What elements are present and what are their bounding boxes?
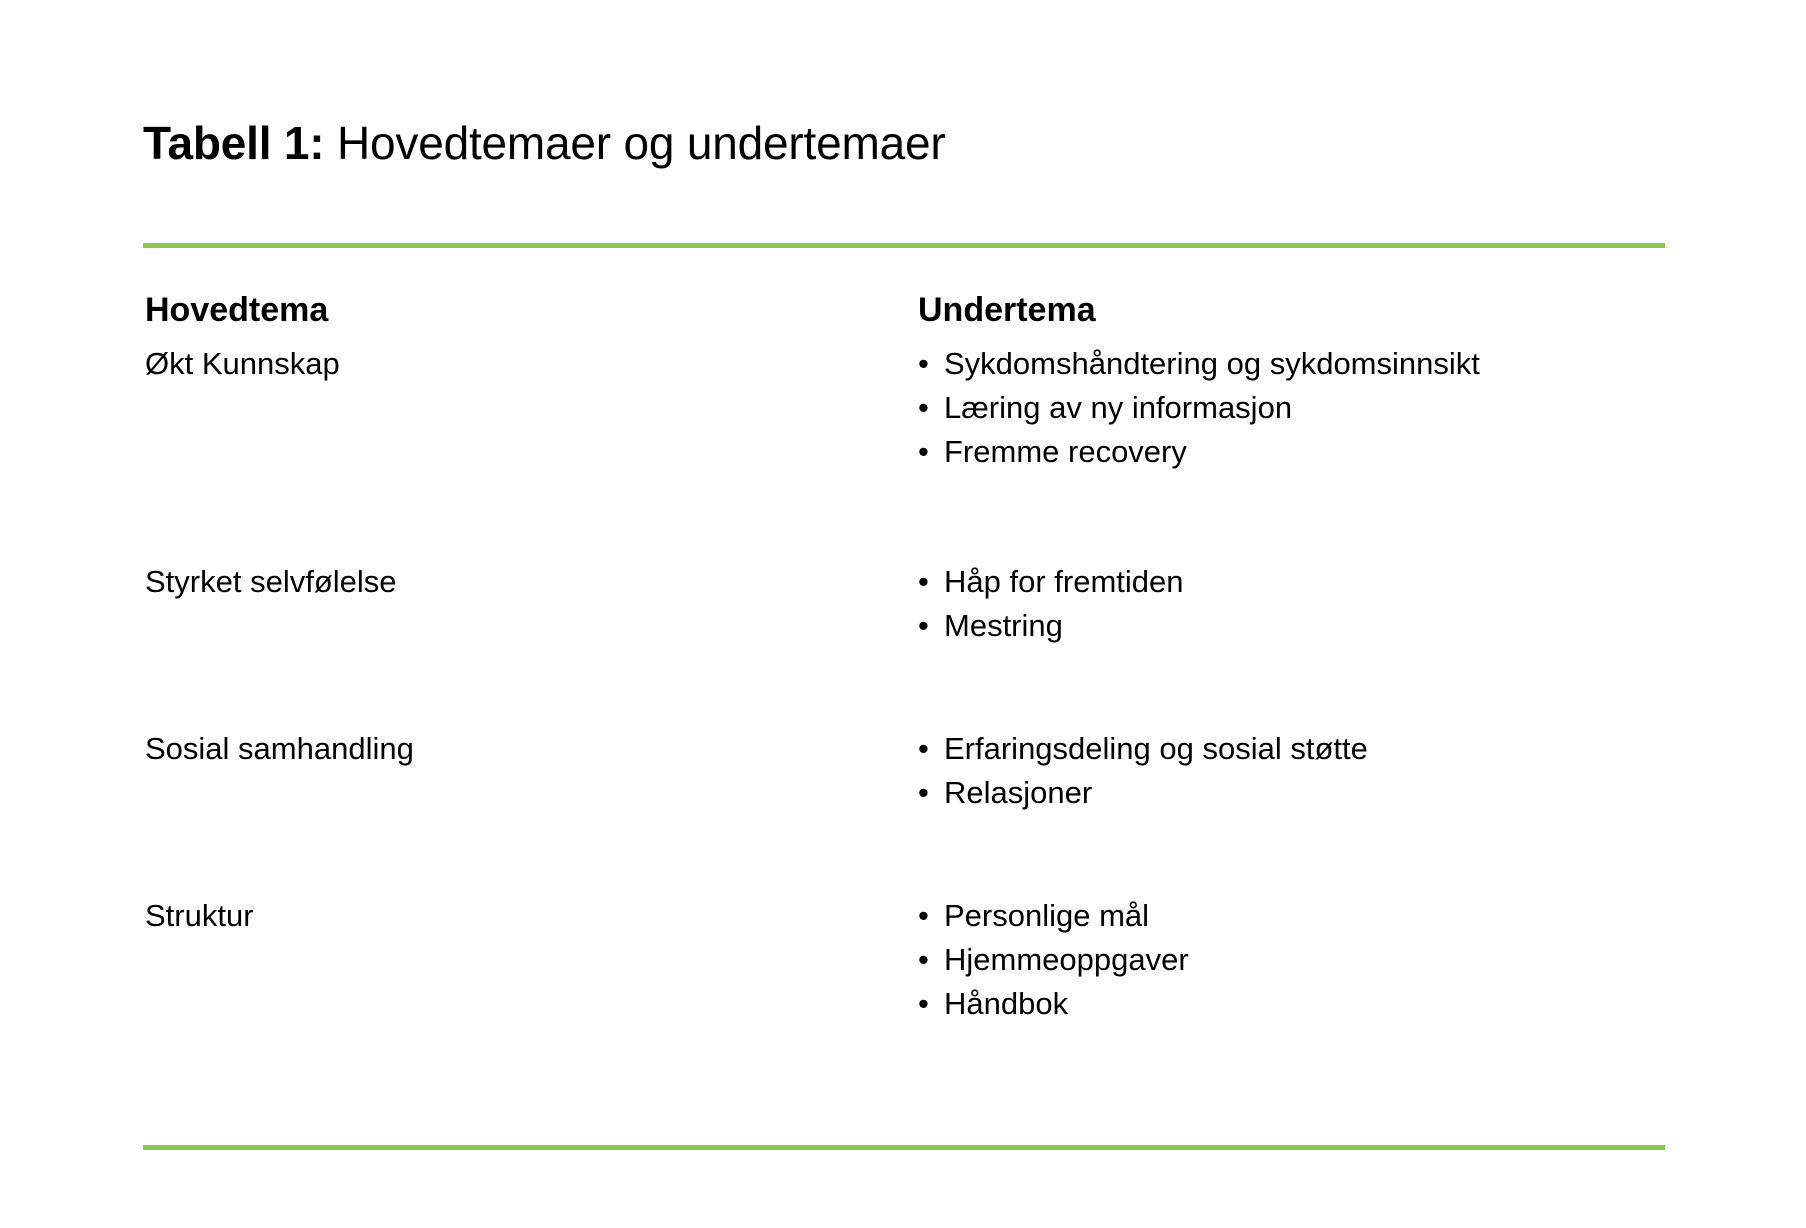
- main-theme-label: Sosial samhandling: [145, 727, 765, 771]
- bullet-icon: •: [918, 938, 929, 982]
- table-cell-hovedtema: Struktur: [145, 894, 765, 938]
- table-cell-hovedtema: Styrket selvfølelse: [145, 560, 765, 604]
- bullet-icon: •: [918, 894, 929, 938]
- subtheme-list: •Personlige mål •Hjemmeoppgaver •Håndbok: [918, 894, 1658, 1026]
- list-item: •Læring av ny informasjon: [918, 386, 1658, 430]
- bullet-icon: •: [918, 727, 929, 771]
- bullet-icon: •: [918, 560, 929, 604]
- table-bottom-rule: [143, 1145, 1665, 1150]
- main-theme-label: Styrket selvfølelse: [145, 560, 765, 604]
- subtheme-label: Relasjoner: [944, 775, 1092, 810]
- subtheme-label: Håndbok: [944, 986, 1068, 1021]
- subtheme-label: Mestring: [944, 608, 1063, 643]
- subtheme-label: Sykdomshåndtering og sykdomsinnsikt: [944, 346, 1480, 381]
- page-title-rest: Hovedtemaer og undertemaer: [324, 117, 945, 169]
- table-cell-undertema: •Personlige mål •Hjemmeoppgaver •Håndbok: [918, 894, 1658, 1026]
- table-cell-hovedtema: Sosial samhandling: [145, 727, 765, 771]
- list-item: •Mestring: [918, 604, 1658, 648]
- subtheme-label: Erfaringsdeling og sosial støtte: [944, 731, 1368, 766]
- column-header-hovedtema-cell: Hovedtema: [145, 290, 765, 331]
- page-title-prefix: Tabell 1:: [143, 117, 324, 169]
- table-cell-undertema: •Håp for fremtiden •Mestring: [918, 560, 1658, 648]
- subtheme-label: Hjemmeoppgaver: [944, 942, 1189, 977]
- column-header-undertema-cell: Undertema: [918, 290, 1658, 331]
- table-cell-undertema: •Erfaringsdeling og sosial støtte •Relas…: [918, 727, 1658, 815]
- list-item: •Håp for fremtiden: [918, 560, 1658, 604]
- column-header-hovedtema: Hovedtema: [145, 290, 765, 331]
- bullet-icon: •: [918, 604, 929, 648]
- list-item: •Hjemmeoppgaver: [918, 938, 1658, 982]
- subtheme-label: Håp for fremtiden: [944, 564, 1184, 599]
- table-top-rule: [143, 243, 1665, 248]
- main-theme-label: Struktur: [145, 894, 765, 938]
- bullet-icon: •: [918, 430, 929, 474]
- list-item: •Erfaringsdeling og sosial støtte: [918, 727, 1658, 771]
- bullet-icon: •: [918, 342, 929, 386]
- page-title: Tabell 1: Hovedtemaer og undertemaer: [143, 117, 945, 170]
- bullet-icon: •: [918, 982, 929, 1026]
- list-item: •Fremme recovery: [918, 430, 1658, 474]
- list-item: •Personlige mål: [918, 894, 1658, 938]
- column-header-undertema: Undertema: [918, 290, 1658, 331]
- bullet-icon: •: [918, 771, 929, 815]
- main-theme-label: Økt Kunnskap: [145, 342, 765, 386]
- table-cell-hovedtema: Økt Kunnskap: [145, 342, 765, 386]
- bullet-icon: •: [918, 386, 929, 430]
- subtheme-label: Læring av ny informasjon: [944, 390, 1292, 425]
- subtheme-label: Personlige mål: [944, 898, 1149, 933]
- list-item: •Relasjoner: [918, 771, 1658, 815]
- subtheme-list: •Erfaringsdeling og sosial støtte •Relas…: [918, 727, 1658, 815]
- list-item: •Sykdomshåndtering og sykdomsinnsikt: [918, 342, 1658, 386]
- subtheme-list: •Håp for fremtiden •Mestring: [918, 560, 1658, 648]
- subtheme-label: Fremme recovery: [944, 434, 1187, 469]
- subtheme-list: •Sykdomshåndtering og sykdomsinnsikt •Læ…: [918, 342, 1658, 474]
- list-item: •Håndbok: [918, 982, 1658, 1026]
- slide-canvas: Tabell 1: Hovedtemaer og undertemaer Hov…: [0, 0, 1806, 1228]
- table-cell-undertema: •Sykdomshåndtering og sykdomsinnsikt •Læ…: [918, 342, 1658, 474]
